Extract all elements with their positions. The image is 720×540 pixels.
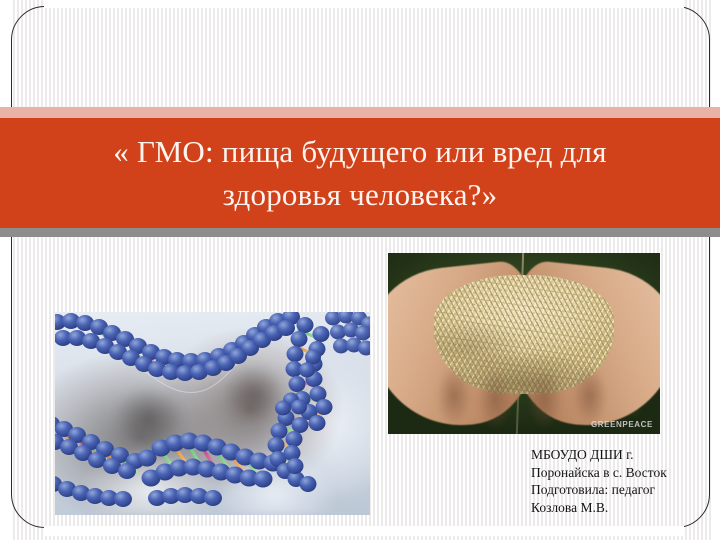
banner-accent-top — [0, 107, 720, 118]
finger-shading — [421, 365, 628, 427]
presentation-slide: « ГМО: пища будущего или вред для здоров… — [0, 0, 720, 540]
title-banner: « ГМО: пища будущего или вред для здоров… — [0, 107, 720, 237]
frame-bottom-gap — [44, 526, 684, 536]
hands-holding-grain-photo: GREENPEACE — [388, 253, 660, 434]
banner-accent-bottom — [0, 228, 720, 237]
author-attribution: МБОУДО ДШИ г. Поронайска в с. Восток Под… — [531, 446, 717, 516]
dna-helix-graphic — [55, 312, 370, 515]
greenpeace-watermark: GREENPEACE — [591, 420, 653, 429]
frame-top-gap — [44, 0, 684, 8]
slide-title: « ГМО: пища будущего или вред для здоров… — [0, 118, 720, 228]
dna-lab-photo — [55, 312, 370, 515]
